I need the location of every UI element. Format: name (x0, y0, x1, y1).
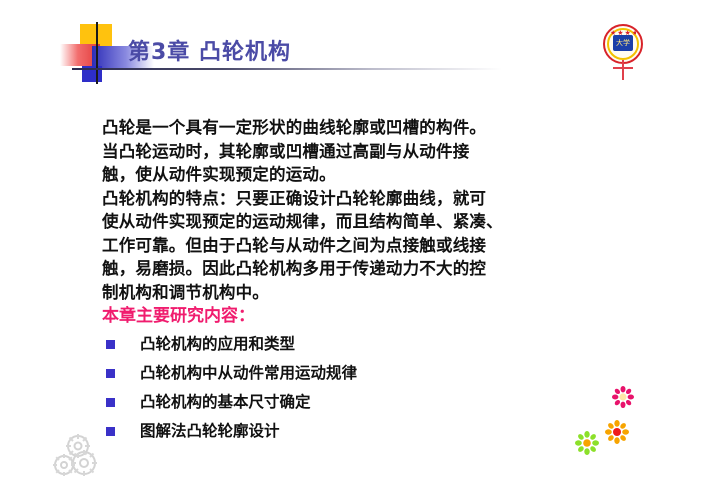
decoration-vertical-line (96, 22, 98, 84)
list-item[interactable]: 图解法凸轮轮廓设计 (106, 418, 556, 447)
flower-orange-icon (605, 420, 629, 448)
body-line: 使从动件实现预定的运动规律，而且结构简单、紧凑、 (102, 210, 622, 234)
university-emblem: ★★★★ 大学 (601, 24, 645, 80)
body-line: 凸轮是一个具有一定形状的曲线轮廓或凹槽的构件。 (102, 116, 622, 140)
title-underline-rule (72, 68, 502, 70)
square-bullet-icon (106, 369, 115, 378)
flower-green-icon (575, 431, 599, 459)
emblem-core-label: 大学 (613, 35, 633, 51)
list-item[interactable]: 凸轮机构中从动件常用运动规律 (106, 360, 556, 389)
square-bullet-icon (106, 427, 115, 436)
research-topics-list: 凸轮机构的应用和类型 凸轮机构中从动件常用运动规律 凸轮机构的基本尺寸确定 图解… (106, 331, 556, 447)
body-line: 触，使从动件实现预定的运动。 (102, 163, 622, 187)
square-bullet-icon (106, 340, 115, 349)
flower-pink-icon (612, 386, 634, 412)
list-item-label: 图解法凸轮轮廓设计 (140, 418, 280, 444)
square-bullet-icon (106, 398, 115, 407)
body-line: 触，易磨损。因此凸轮机构多用于传递动力不大的控 (102, 257, 622, 281)
slide-title: 第3章 凸轮机构 (128, 34, 291, 66)
emblem-stem-vertical (622, 60, 624, 80)
body-line: 当凸轮运动时，其轮廓或凹槽通过高副与从动件接 (102, 140, 622, 164)
body-paragraph: 凸轮是一个具有一定形状的曲线轮廓或凹槽的构件。 当凸轮运动时，其轮廓或凹槽通过高… (102, 116, 622, 304)
body-line: 凸轮机构的特点：只要正确设计凸轮轮廓曲线，就可 (102, 187, 622, 211)
list-item-label: 凸轮机构中从动件常用运动规律 (140, 360, 357, 386)
list-item-label: 凸轮机构的应用和类型 (140, 331, 295, 357)
body-line: 工作可靠。但由于凸轮与从动件之间为点接触或线接 (102, 234, 622, 258)
section-heading: 本章主要研究内容： (102, 301, 255, 326)
list-item-label: 凸轮机构的基本尺寸确定 (140, 389, 311, 415)
list-item[interactable]: 凸轮机构的基本尺寸确定 (106, 389, 556, 418)
list-item[interactable]: 凸轮机构的应用和类型 (106, 331, 556, 360)
slide-canvas: 第3章 凸轮机构 ★★★★ 大学 凸轮是一个具有一定形状的曲线轮廓或凹槽的构件。… (0, 0, 702, 496)
gears-watermark-icon (48, 432, 104, 484)
emblem-stem-horizontal (613, 67, 633, 69)
